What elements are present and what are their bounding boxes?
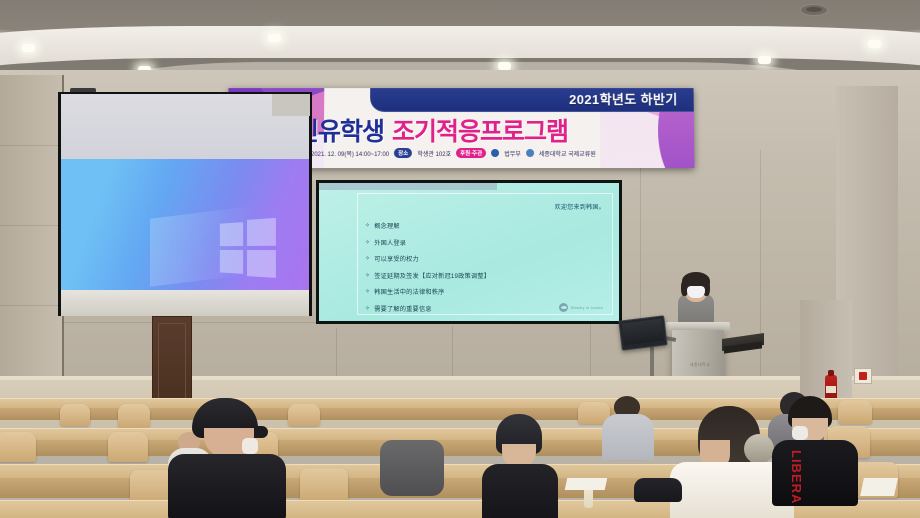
slide-welcome-text: 欢迎您来到韩国。	[555, 202, 605, 211]
fire-sign-icon	[859, 372, 867, 380]
university-logo-icon	[526, 149, 534, 157]
left-screen-small-panel	[272, 94, 310, 116]
hair-ponytail	[744, 434, 774, 464]
audience-torso	[482, 464, 558, 518]
wall-seam	[760, 150, 761, 390]
chair	[0, 432, 36, 462]
banner-sponsor-label: 후원·주관	[456, 148, 486, 158]
banner-place-value: 학생관 102호	[417, 149, 451, 158]
banner-sponsor-2: 세종대학교 국제교류원	[539, 149, 596, 158]
diamond-bullet-icon: ✧	[365, 272, 370, 279]
list-item: ✧ 可以享受的权力	[365, 254, 490, 263]
ceiling-spotlight	[758, 56, 771, 64]
jacket-on-chair	[380, 440, 444, 496]
lecture-hall-photo: 2021학년도 하반기 외국인유학생조기적응프로그램 일시 2021. 12. …	[0, 0, 920, 518]
diamond-bullet-icon: ✧	[365, 222, 370, 229]
face-mask-icon	[687, 286, 705, 298]
slide-bullet-text: 外国人登录	[374, 238, 406, 247]
ministry-logo-icon	[491, 149, 499, 157]
slide-bullet-text: 概念理解	[374, 221, 400, 230]
fire-extinguisher-valve	[828, 370, 834, 376]
list-item: ✧ 需要了解的重要信息	[365, 304, 490, 313]
windows-desktop-wallpaper	[61, 159, 309, 290]
banner-sponsor-1: 법무부	[504, 149, 521, 158]
audience-torso	[168, 454, 286, 518]
banner-year-text: 2021학년도 하반기	[569, 89, 678, 108]
backpack	[634, 478, 682, 502]
left-screen-lower-band	[61, 290, 309, 316]
list-item: ✧ 外国人登录	[365, 238, 490, 247]
slide-bullet-text: 韩国生活中的法律和秩序	[374, 287, 444, 296]
list-item: ✧ 概念理解	[365, 221, 490, 230]
paper-sheet	[565, 478, 608, 490]
chair	[60, 404, 90, 426]
banner-title-pink: 조기적응프로그램	[392, 118, 568, 146]
chair	[300, 468, 348, 502]
banner-title: 외국인유학생조기적응프로그램	[252, 112, 682, 148]
ceiling-spotlight	[268, 34, 281, 42]
slide-bullet-text: 需要了解的重要信息	[374, 304, 432, 313]
wall-seam	[640, 160, 641, 340]
list-item: ✧ 韩国生活中的法律和秩序	[365, 287, 490, 296]
ceiling-spotlight	[868, 40, 881, 48]
slide-header-band	[319, 183, 497, 190]
left-wall-column	[0, 75, 64, 405]
ceiling-speaker	[800, 4, 828, 16]
chair	[288, 404, 320, 426]
diamond-bullet-icon: ✧	[365, 305, 370, 312]
banner-ribbon: 2021학년도 하반기	[370, 88, 694, 112]
audience-torso	[772, 440, 858, 506]
slide-footer-logo-text: Ministry of Justice	[571, 306, 603, 310]
monitor-screen	[622, 319, 664, 346]
ministry-seal-icon	[559, 303, 568, 312]
paper-sheet	[860, 478, 898, 496]
diamond-bullet-icon: ✧	[365, 239, 370, 246]
chair	[838, 400, 872, 424]
chair	[108, 432, 148, 462]
fire-extinguisher-label	[826, 386, 836, 393]
presentation-slide: 欢迎您来到韩国。 ✧ 概念理解 ✧ 外国人登录 ✧ 可以享受的权力 ✧ 签证延期…	[319, 183, 619, 321]
slide-bullet-text: 可以享受的权力	[374, 254, 419, 263]
windows-logo-icon	[220, 220, 276, 278]
shirt-text: LIBERA	[789, 450, 804, 504]
left-projection-screen	[61, 94, 309, 290]
slide-footer-logo: Ministry of Justice	[559, 303, 603, 312]
banner-date-value: 2021. 12. 09(목) 14:00~17:00	[311, 149, 389, 158]
podium-label: 세종대학교	[684, 362, 716, 368]
list-item: ✧ 签证延期及签发【应对新冠19政策调整】	[365, 271, 490, 280]
face-mask-icon	[792, 426, 808, 440]
ceiling-spotlight	[22, 44, 35, 52]
banner-place-label: 장소	[394, 148, 412, 158]
slide-bullet-text: 签证延期及签发【应对新冠19政策调整】	[374, 271, 490, 280]
slide-bullet-list: ✧ 概念理解 ✧ 外国人登录 ✧ 可以享受的权力 ✧ 签证延期及签发【应对新冠1…	[365, 221, 490, 320]
fire-equipment-sign	[854, 368, 872, 384]
face-mask-icon	[242, 438, 258, 454]
chair	[118, 404, 150, 428]
diamond-bullet-icon: ✧	[365, 288, 370, 295]
wooden-door-panel	[152, 316, 192, 410]
diamond-bullet-icon: ✧	[365, 255, 370, 262]
presenter-monitor	[618, 315, 667, 350]
ceiling-spotlight	[498, 62, 511, 70]
audience-torso	[602, 414, 654, 460]
banner-info-line: 일시 2021. 12. 09(목) 14:00~17:00 장소 학생관 10…	[288, 146, 689, 160]
